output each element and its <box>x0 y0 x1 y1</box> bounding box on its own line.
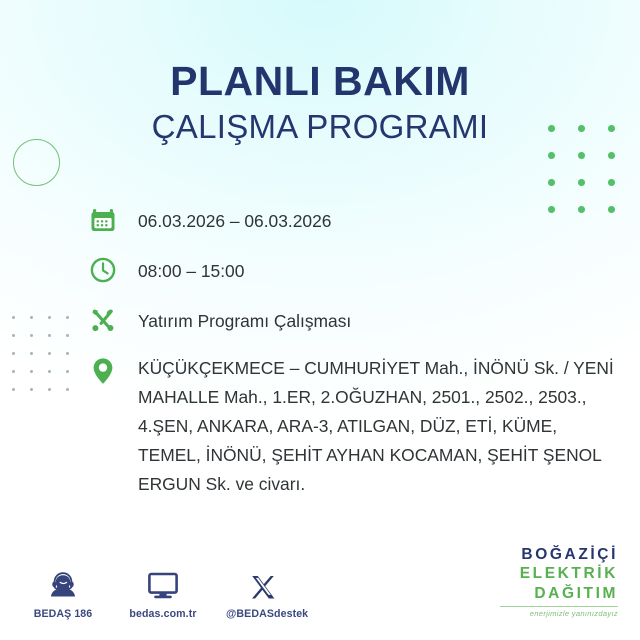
info-row-date: 06.03.2026 – 06.03.2026 <box>86 203 620 237</box>
time-range-text: 08:00 – 15:00 <box>120 253 244 286</box>
brand-tagline: enerjimizle yanınızdayız <box>500 610 618 618</box>
brand-line-dagitim: DAĞITIM <box>500 586 618 602</box>
poster-footer: BEDAŞ 186 bedas.com.tr <box>0 546 640 626</box>
contact-phone-label: BEDAŞ 186 <box>26 608 100 620</box>
bedas-logo: BOĞAZİÇİ ELEKTRİK DAĞITIM enerjimizle ya… <box>500 547 618 618</box>
brand-line-elektrik: ELEKTRİK <box>500 566 618 582</box>
contact-phone[interactable]: BEDAŞ 186 <box>26 567 100 620</box>
contact-website-label: bedas.com.tr <box>126 608 200 620</box>
contact-x-twitter[interactable]: @BEDASdestek <box>226 567 300 620</box>
contact-list: BEDAŞ 186 bedas.com.tr <box>26 567 300 620</box>
info-row-time: 08:00 – 15:00 <box>86 253 620 287</box>
tools-icon <box>86 303 120 337</box>
location-pin-icon <box>86 353 120 387</box>
contact-x-label: @BEDASdestek <box>226 608 300 620</box>
dot-grid-left-decoration <box>12 316 84 406</box>
contact-website[interactable]: bedas.com.tr <box>126 567 200 620</box>
x-twitter-icon <box>226 567 300 601</box>
date-range-text: 06.03.2026 – 06.03.2026 <box>120 203 331 236</box>
info-list: 06.03.2026 – 06.03.2026 08:00 – 15:00 <box>86 203 620 499</box>
work-type-text: Yatırım Programı Çalışması <box>120 303 351 336</box>
info-row-location: KÜÇÜKÇEKMECE – CUMHURİYET Mah., İNÖNÜ Sk… <box>86 353 620 499</box>
calendar-icon <box>86 203 120 237</box>
monitor-icon <box>126 567 200 601</box>
headset-agent-icon <box>26 567 100 601</box>
planned-maintenance-poster: PLANLI BAKIM ÇALIŞMA PROGRAMI <box>0 0 640 640</box>
location-text: KÜÇÜKÇEKMECE – CUMHURİYET Mah., İNÖNÜ Sk… <box>120 353 620 499</box>
brand-line-bogazici: BOĞAZİÇİ <box>500 547 618 563</box>
page-subtitle: ÇALIŞMA PROGRAMI <box>0 107 640 147</box>
brand-divider <box>500 606 618 607</box>
poster-header: PLANLI BAKIM ÇALIŞMA PROGRAMI <box>0 58 640 147</box>
clock-icon <box>86 253 120 287</box>
page-title: PLANLI BAKIM <box>0 58 640 104</box>
info-row-work-type: Yatırım Programı Çalışması <box>86 303 620 337</box>
